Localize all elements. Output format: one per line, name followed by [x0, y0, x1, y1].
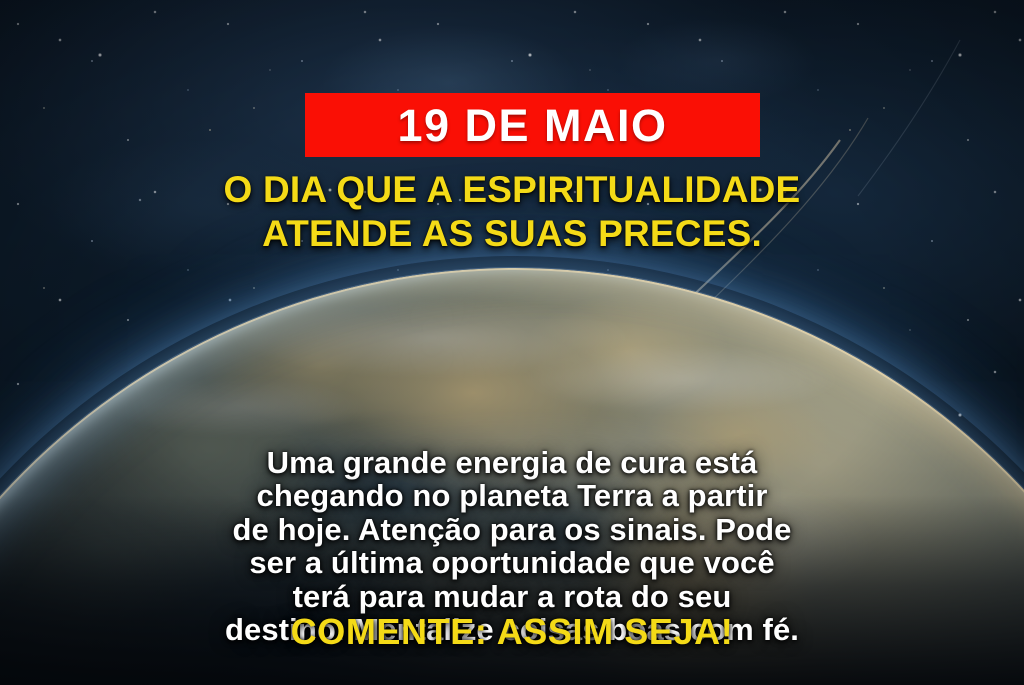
body-line-3: de hoje. Atenção para os sinais. Pode	[48, 513, 976, 546]
body-line-4: ser a última oportunidade que você	[48, 546, 976, 579]
headline-line-1: O DIA QUE A ESPIRITUALIDADE	[52, 168, 972, 212]
headline-line-2: ATENDE AS SUAS PRECES.	[52, 212, 972, 256]
body-line-2: chegando no planeta Terra a partir	[48, 479, 976, 512]
headline: O DIA QUE A ESPIRITUALIDADE ATENDE AS SU…	[0, 168, 1024, 255]
body-line-5: terá para mudar a rota do seu	[48, 580, 976, 613]
body-line-1: Uma grande energia de cura está	[48, 446, 976, 479]
poster-canvas: 19 DE MAIO O DIA QUE A ESPIRITUALIDADE A…	[0, 0, 1024, 685]
date-banner: 19 DE MAIO	[305, 93, 760, 157]
call-to-action-text: COMENTE: ASSIM SEJA!	[0, 612, 1024, 652]
poster-content: 19 DE MAIO O DIA QUE A ESPIRITUALIDADE A…	[0, 0, 1024, 685]
date-banner-text: 19 DE MAIO	[397, 103, 667, 148]
